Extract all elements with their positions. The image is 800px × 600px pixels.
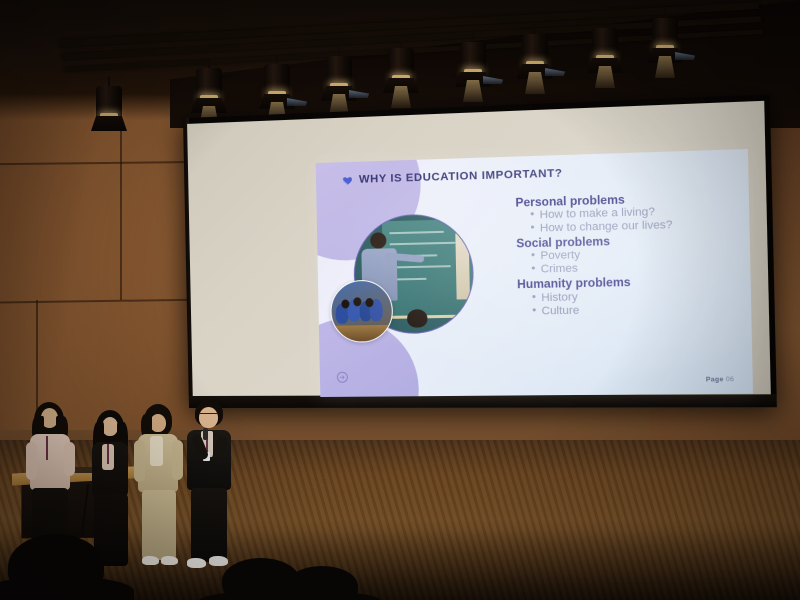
page-label: Page (706, 376, 724, 383)
section-bullets: History Culture (532, 288, 736, 318)
stage-light (388, 38, 414, 82)
stage-light (522, 24, 548, 68)
stage-light (460, 32, 486, 76)
student-head (407, 310, 428, 329)
bullet-item: Culture (532, 301, 736, 318)
microphone-icon (203, 428, 208, 440)
section-bullets: How to make a living? How to change our … (530, 204, 734, 236)
arrow-right-glyph (339, 374, 346, 381)
slide-content: Personal problems How to make a living? … (515, 189, 736, 318)
section-bullets: Poverty Crimes (531, 246, 735, 277)
arrow-circle-icon (337, 372, 348, 383)
stage-light (96, 76, 122, 120)
glasses-icon (199, 413, 218, 418)
page-number: Page 06 (706, 376, 735, 384)
auditorium-presentation-scene: WHY IS EDUCATION IMPORTANT? (0, 0, 800, 600)
stage-light (326, 46, 352, 90)
screen-bottom-bar (189, 394, 777, 408)
classroom-poster (455, 233, 469, 299)
presentation-slide[interactable]: WHY IS EDUCATION IMPORTANT? (316, 149, 753, 397)
presenter-4 (181, 400, 243, 575)
stage-light (196, 58, 222, 102)
classroom-students-photo (330, 280, 393, 343)
heart-icon (342, 174, 353, 185)
stage-light (652, 8, 678, 52)
page-value: 06 (726, 376, 735, 383)
stage-light (592, 18, 618, 62)
stage-light (264, 54, 290, 98)
